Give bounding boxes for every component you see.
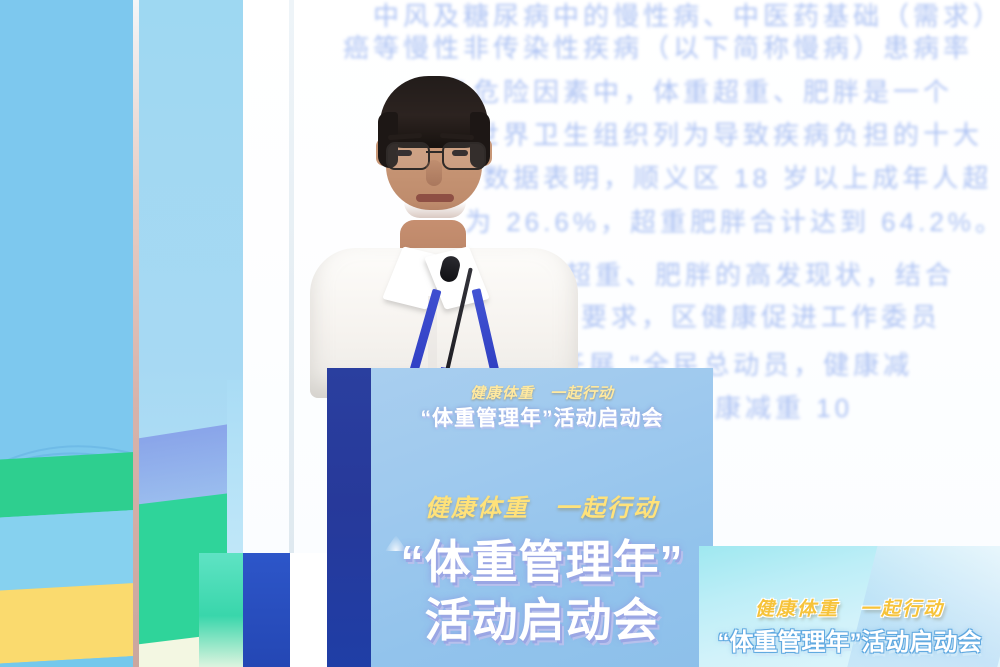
podium: 健康体重 一起行动 “体重管理年”活动启动会 健康体重 一起行动 “体重管理年”… (327, 368, 713, 667)
event-banner: 健康体重 一起行动 “体重管理年”活动启动会 (699, 546, 1000, 667)
podium-top-slogan: 健康体重 一起行动 (371, 382, 713, 403)
wall-panel-deepblue-lower (243, 553, 290, 667)
lens-right (442, 142, 486, 170)
wall-panel-left (0, 0, 137, 667)
screen-left-seam (289, 0, 294, 553)
panel-band-blue (0, 507, 137, 591)
panel-band-green (0, 449, 137, 518)
podium-front-title-line1: “体重管理年” (371, 526, 713, 592)
banner-slogan: 健康体重 一起行动 (699, 594, 1000, 621)
glasses-bridge (426, 151, 442, 153)
panel-band-yellow (0, 580, 137, 664)
podium-left-side (327, 368, 371, 667)
speaker (300, 60, 600, 390)
banner-title: “体重管理年”活动启动会 (699, 622, 1000, 657)
podium-front-title-line2: 活动启动会 (371, 584, 713, 650)
lens-left (386, 142, 430, 170)
presentation-scene: 中风及糖尿病中的慢性病、中医药基础（需求）等 癌等慢性非传染性疾病（以下简称慢病… (0, 0, 1000, 667)
podium-top-title: “体重管理年”活动启动会 (371, 402, 713, 432)
wall-panel-teal-lower (199, 553, 245, 667)
chin-shadow (404, 202, 466, 218)
mouth (416, 194, 454, 202)
nose (426, 160, 442, 186)
podium-front-slogan: 健康体重 一起行动 (371, 488, 713, 523)
